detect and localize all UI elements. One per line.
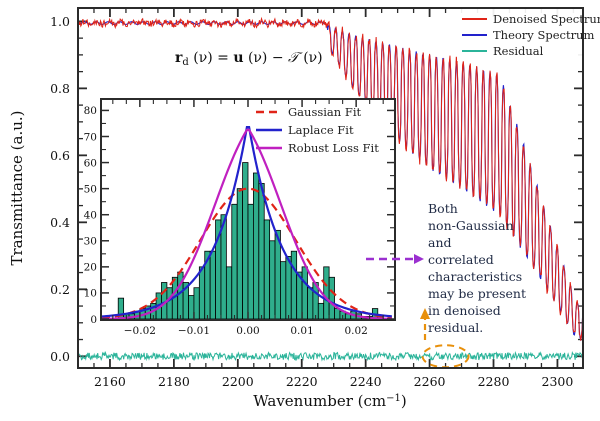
histogram-bar: [307, 288, 312, 319]
y-tick-label: 0.0: [50, 349, 70, 364]
y-tick-label: 1.0: [50, 14, 70, 29]
histogram-bar: [259, 183, 264, 319]
main-legend: Denoised Spectrum Theory Spectrum Residu…: [457, 9, 600, 61]
histogram-bar: [280, 262, 285, 319]
x-tick-label: 2220: [286, 374, 318, 389]
x-tick-label: 2160: [94, 374, 126, 389]
annotation-line: residual.: [428, 320, 483, 335]
y-tick-label: 0.6: [50, 148, 70, 163]
histogram-bar: [329, 277, 334, 319]
legend-label-denoised: Denoised Spectrum: [493, 12, 600, 26]
histogram-bar: [324, 267, 329, 319]
annotation-line: Both: [428, 201, 458, 216]
x-axis-label: Wavenumber (cm−1): [253, 392, 406, 410]
inset-y-tick-label: 80: [84, 105, 97, 117]
spectrum-figure: 0.00.20.40.60.81.0 216021802200222022402…: [0, 0, 600, 421]
inset-x-tick-label: −0.01: [178, 325, 210, 337]
histogram-bar: [264, 220, 269, 319]
annotation-line: and: [428, 235, 452, 250]
histogram-bar: [194, 288, 199, 319]
annotation-line: characteristics: [428, 269, 522, 284]
histogram-bar: [291, 251, 296, 319]
inset-y-tick-label: 70: [84, 131, 97, 143]
histogram-bar: [189, 296, 194, 319]
y-tick-label: 0.2: [50, 282, 70, 297]
formula-annotation: rd (ν) = u (ν) − 𝒯 (ν): [175, 50, 323, 68]
figure-root: 0.00.20.40.60.81.0 216021802200222022402…: [0, 0, 600, 421]
inset-y-tick-label: 50: [84, 183, 97, 195]
histogram-bar: [243, 163, 248, 319]
histogram-bar: [270, 241, 275, 319]
histogram-bar: [226, 267, 231, 319]
annotation-line: non-Gaussian: [428, 218, 514, 233]
inset-y-tick-label: 0: [90, 314, 97, 326]
histogram-bar: [210, 251, 215, 319]
histogram-bar: [167, 288, 172, 319]
inset-x-tick-label: −0.02: [124, 325, 156, 337]
x-tick-label: 2180: [158, 374, 190, 389]
x-tick-label: 2200: [222, 374, 254, 389]
inset-x-tick-label: 0.01: [290, 325, 313, 337]
x-tick-label: 2300: [542, 374, 574, 389]
histogram-bar: [248, 204, 253, 319]
inset-x-tick-label: 0.02: [344, 325, 367, 337]
histogram-bar: [335, 309, 340, 319]
legend-label-theory: Theory Spectrum: [493, 28, 594, 42]
annotation-line: in denoised: [428, 303, 501, 318]
legend-label-residual: Residual: [493, 44, 544, 58]
inset-x-tick-label: 0.00: [236, 325, 259, 337]
histogram-bar: [318, 303, 323, 319]
inset-y-tick-label: 10: [84, 288, 97, 300]
inset-y-tick-label: 60: [84, 157, 97, 169]
inset-y-tick-label: 30: [84, 236, 97, 248]
histogram-bar: [253, 173, 258, 319]
inset-legend-label-robust: Robust Loss Fit: [288, 141, 379, 155]
histogram-bar: [302, 267, 307, 319]
inset-y-tick-label: 20: [84, 262, 97, 274]
x-tick-label: 2280: [478, 374, 510, 389]
histogram-bar: [232, 204, 237, 319]
histogram-bar: [237, 189, 242, 319]
histogram-bar: [199, 267, 204, 319]
y-tick-label: 0.8: [50, 81, 70, 96]
inset-legend-label-laplace: Laplace Fit: [288, 123, 354, 137]
annotation-line: may be present: [428, 286, 526, 301]
y-axis-label: Transmittance (a.u.): [8, 110, 26, 265]
inset-y-tick-label: 40: [84, 210, 97, 222]
histogram-bar: [286, 256, 291, 319]
x-tick-label: 2240: [350, 374, 382, 389]
inset-legend-label-gaussian: Gaussian Fit: [288, 105, 362, 119]
y-tick-label: 0.4: [50, 215, 70, 230]
svg-text:rd (ν) = u (ν) − 𝒯 (ν): rd (ν) = u (ν) − 𝒯 (ν): [175, 50, 323, 68]
x-tick-label: 2260: [414, 374, 446, 389]
annotation-line: correlated: [428, 252, 494, 267]
inset-histogram: 01020304050607080 −0.02−0.010.000.010.02…: [84, 99, 395, 337]
